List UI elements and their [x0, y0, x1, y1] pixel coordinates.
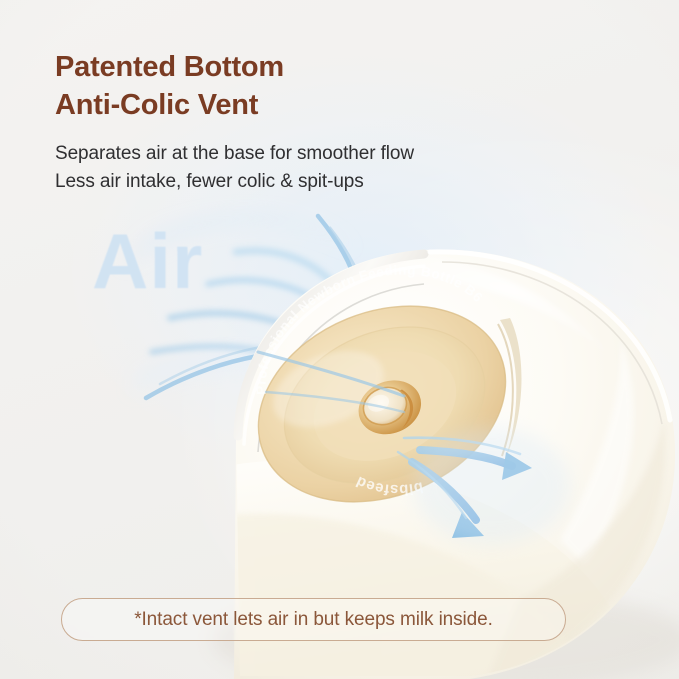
footnote-pill: *Intact vent lets air in but keeps milk …	[61, 598, 566, 641]
product-feature-image: Professional Newborn Feeding Bottle B6 b…	[0, 0, 679, 679]
footnote-text: *Intact vent lets air in but keeps milk …	[134, 610, 493, 629]
air-watermark-label: Air	[92, 222, 203, 300]
page-title: Patented Bottom Anti-Colic Vent	[55, 48, 284, 125]
page-subtitle: Separates air at the base for smoother f…	[55, 140, 414, 195]
